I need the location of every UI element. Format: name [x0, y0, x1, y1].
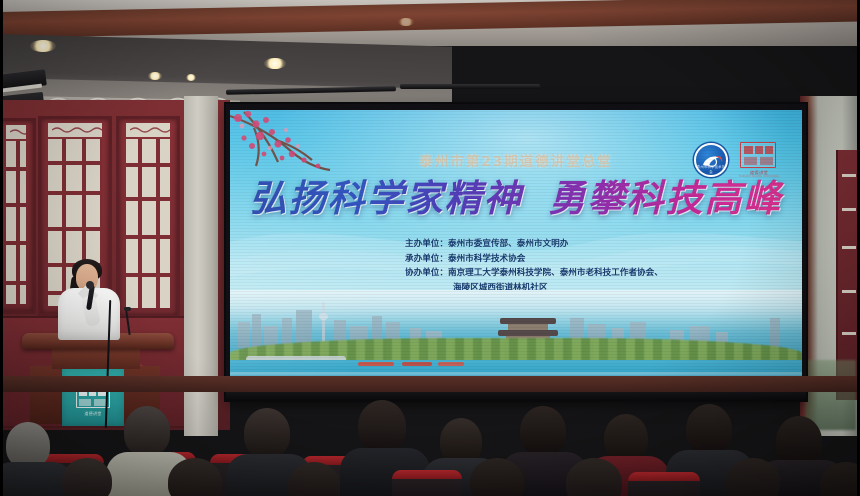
screen-header-line: 泰州市第23期道德讲堂总堂	[230, 150, 802, 170]
led-stage-screen: 泰州市科学技术协会 道德讲堂 TAIZHOU DAODE JIANGTANG 泰…	[226, 104, 806, 400]
lattice-grid-1	[6, 141, 26, 304]
audience-area	[0, 386, 860, 496]
chair-headrest	[628, 472, 700, 481]
screenshot-scene: 泰州市科学技术协会 道德讲堂 TAIZHOU DAODE JIANGTANG 泰…	[0, 0, 860, 496]
screen-main-title: 弘扬科学家精神勇攀科技高峰	[230, 168, 802, 222]
title-part-right: 勇攀科技高峰	[549, 176, 783, 220]
organizer-line-undertaker: 承办单位：泰州市科学技术协会	[405, 254, 525, 264]
chair-headrest	[392, 470, 462, 479]
organizer-line-coorganizer: 协办单位：南京理工大学泰州科技学院、泰州市老科技工作者协会、	[405, 268, 663, 278]
building	[238, 322, 250, 348]
lattice-panel-1	[0, 118, 36, 314]
chair-front	[628, 472, 700, 496]
downlight-4	[264, 58, 286, 69]
lattice-grid-3	[126, 139, 170, 308]
lattice-carving-head-2	[48, 123, 102, 137]
downlight-2	[148, 72, 162, 80]
podium-microphone-capsule	[124, 307, 131, 311]
downlight-1	[30, 40, 56, 52]
microphone-head	[86, 281, 94, 289]
lighting-truss-right	[400, 84, 540, 89]
audience-head-front	[62, 458, 112, 496]
boat	[402, 362, 432, 366]
audience-head	[686, 404, 732, 454]
carving-scroll-icon	[130, 126, 170, 134]
title-part-left: 弘扬科学家精神	[250, 176, 523, 220]
carving-scroll-icon	[52, 126, 102, 134]
downlight-5	[398, 18, 414, 26]
tv-tower-sphere	[319, 313, 328, 320]
audience-head	[776, 416, 822, 466]
lattice-carving-head-1	[6, 125, 26, 139]
audience-head	[358, 400, 406, 452]
lattice-carving-head-3	[126, 123, 170, 137]
chair-front	[392, 470, 462, 496]
audience-head	[244, 408, 290, 458]
boat	[358, 362, 394, 366]
audience-head	[604, 414, 648, 462]
building	[770, 318, 780, 348]
building	[252, 314, 261, 348]
carving-scroll-icon	[10, 128, 26, 136]
frame-edge-left	[0, 0, 3, 496]
boat	[438, 362, 464, 366]
screen-organizer-block: 主办单位：泰州市委宣传部、泰州市文明办 承办单位：泰州市科学技术协会 协办单位：…	[405, 237, 663, 295]
led-screen-content: 泰州市科学技术协会 道德讲堂 TAIZHOU DAODE JIANGTANG 泰…	[230, 110, 802, 394]
audience-head	[124, 406, 170, 456]
organizer-line-host: 主办单位：泰州市委宣传部、泰州市文明办	[405, 239, 568, 249]
podium-column	[52, 349, 140, 369]
downlight-3	[186, 74, 196, 81]
lattice-panel-3	[116, 116, 180, 318]
audience-head	[520, 406, 566, 456]
